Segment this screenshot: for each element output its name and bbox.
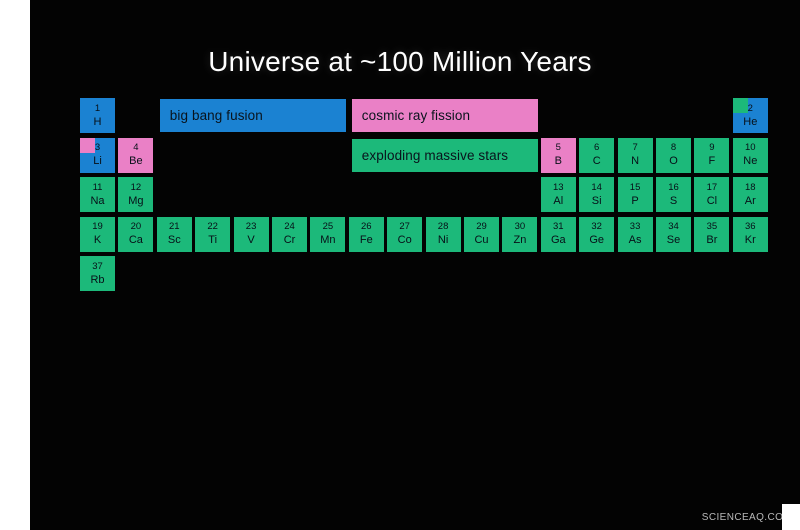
atomic-number: 8 <box>671 143 676 153</box>
element-cell-s[interactable]: 16S <box>656 177 691 212</box>
element-symbol: P <box>631 195 638 208</box>
atomic-number: 27 <box>399 222 410 232</box>
element-symbol: Ti <box>208 234 217 247</box>
element-symbol: Se <box>667 234 680 247</box>
element-symbol: Cr <box>284 234 296 247</box>
element-cell-o[interactable]: 8O <box>656 138 691 173</box>
element-cell-sc[interactable]: 21Sc <box>157 217 192 252</box>
element-symbol: Na <box>90 195 104 208</box>
element-symbol: Fe <box>360 234 373 247</box>
atomic-number: 11 <box>93 183 103 193</box>
element-symbol: Sc <box>168 234 181 247</box>
element-cell-br[interactable]: 35Br <box>694 217 729 252</box>
element-cell-ar[interactable]: 18Ar <box>733 177 768 212</box>
element-symbol: S <box>670 195 677 208</box>
element-cell-ne[interactable]: 10Ne <box>733 138 768 173</box>
atomic-number: 21 <box>169 222 180 232</box>
atomic-number: 29 <box>476 222 487 232</box>
element-cell-mg[interactable]: 12Mg <box>118 177 153 212</box>
element-cell-mn[interactable]: 25Mn <box>310 217 345 252</box>
atomic-number: 10 <box>745 143 756 153</box>
atomic-number: 34 <box>668 222 679 232</box>
diagram-canvas: Universe at ~100 Million Years 1H2He3Li4… <box>30 0 800 530</box>
atomic-number: 7 <box>632 143 637 153</box>
element-symbol: Co <box>398 234 412 247</box>
element-symbol: Ni <box>438 234 448 247</box>
element-symbol: Mn <box>320 234 335 247</box>
atomic-number: 1 <box>95 104 100 114</box>
element-cell-se[interactable]: 34Se <box>656 217 691 252</box>
element-symbol: H <box>94 116 102 129</box>
element-symbol: Cu <box>474 234 488 247</box>
element-cell-al[interactable]: 13Al <box>541 177 576 212</box>
element-symbol: Zn <box>513 234 526 247</box>
element-symbol: C <box>593 155 601 168</box>
atomic-number: 19 <box>92 222 103 232</box>
atomic-number: 31 <box>553 222 564 232</box>
element-cell-p[interactable]: 15P <box>618 177 653 212</box>
atomic-number: 18 <box>745 183 756 193</box>
atomic-number: 4 <box>133 143 138 153</box>
atomic-number: 28 <box>438 222 449 232</box>
element-cell-fe[interactable]: 26Fe <box>349 217 384 252</box>
element-symbol: Ca <box>129 234 143 247</box>
element-cell-kr[interactable]: 36Kr <box>733 217 768 252</box>
atomic-number: 17 <box>707 183 718 193</box>
element-symbol: Al <box>553 195 563 208</box>
element-symbol: Mg <box>128 195 143 208</box>
element-cell-cl[interactable]: 17Cl <box>694 177 729 212</box>
legend-bar-exploding-massive-stars: exploding massive stars <box>352 139 538 172</box>
element-symbol: B <box>555 155 562 168</box>
element-cell-be[interactable]: 4Be <box>118 138 153 173</box>
element-symbol: Si <box>592 195 602 208</box>
element-symbol: K <box>94 234 101 247</box>
atomic-number: 14 <box>591 183 602 193</box>
atomic-number: 22 <box>207 222 218 232</box>
diagram-stage: Universe at ~100 Million Years 1H2He3Li4… <box>0 0 800 530</box>
atomic-number: 25 <box>323 222 334 232</box>
element-cell-n[interactable]: 7N <box>618 138 653 173</box>
element-cell-as[interactable]: 33As <box>618 217 653 252</box>
element-cell-he[interactable]: 2He <box>733 98 768 133</box>
element-symbol: Ne <box>743 155 757 168</box>
atomic-number: 15 <box>630 183 641 193</box>
element-symbol: Ga <box>551 234 566 247</box>
element-cell-zn[interactable]: 30Zn <box>502 217 537 252</box>
element-cell-f[interactable]: 9F <box>694 138 729 173</box>
element-cell-cr[interactable]: 24Cr <box>272 217 307 252</box>
atomic-number: 35 <box>707 222 718 232</box>
atomic-number: 2 <box>748 104 753 114</box>
element-cell-rb[interactable]: 37Rb <box>80 256 115 291</box>
atomic-number: 20 <box>131 222 142 232</box>
atomic-number: 5 <box>556 143 561 153</box>
atomic-number: 9 <box>709 143 714 153</box>
element-symbol: Cl <box>707 195 717 208</box>
element-symbol: Rb <box>90 274 104 287</box>
atomic-number: 30 <box>515 222 526 232</box>
atomic-number: 32 <box>591 222 602 232</box>
element-symbol: F <box>709 155 716 168</box>
element-cell-h[interactable]: 1H <box>80 98 115 133</box>
element-cell-c[interactable]: 6C <box>579 138 614 173</box>
element-symbol: Ge <box>589 234 604 247</box>
element-cell-li[interactable]: 3Li <box>80 138 115 173</box>
element-symbol: Be <box>129 155 142 168</box>
element-symbol: O <box>669 155 678 168</box>
element-symbol: He <box>743 116 757 129</box>
element-cell-b[interactable]: 5B <box>541 138 576 173</box>
legend-bar-cosmic-ray-fission: cosmic ray fission <box>352 99 538 132</box>
element-symbol: Li <box>93 155 102 168</box>
atomic-number: 13 <box>553 183 564 193</box>
element-cell-v[interactable]: 23V <box>234 217 269 252</box>
atomic-number: 24 <box>284 222 295 232</box>
element-cell-ga[interactable]: 31Ga <box>541 217 576 252</box>
element-cell-ti[interactable]: 22Ti <box>195 217 230 252</box>
element-symbol: Br <box>706 234 717 247</box>
atomic-number: 3 <box>95 143 100 153</box>
element-cell-k[interactable]: 19K <box>80 217 115 252</box>
atomic-number: 37 <box>92 262 103 272</box>
atomic-number: 33 <box>630 222 641 232</box>
legend-bar-big-bang-fusion: big bang fusion <box>160 99 346 132</box>
element-cell-co[interactable]: 27Co <box>387 217 422 252</box>
element-symbol: As <box>629 234 642 247</box>
page-title: Universe at ~100 Million Years <box>30 47 770 78</box>
element-symbol: Kr <box>745 234 756 247</box>
element-cell-cu[interactable]: 29Cu <box>464 217 499 252</box>
element-symbol: N <box>631 155 639 168</box>
origin-corner-marker <box>733 98 748 113</box>
element-cell-ca[interactable]: 20Ca <box>118 217 153 252</box>
corner-mask <box>782 504 800 530</box>
atomic-number: 36 <box>745 222 756 232</box>
element-cell-si[interactable]: 14Si <box>579 177 614 212</box>
atomic-number: 12 <box>131 183 142 193</box>
atomic-number: 6 <box>594 143 599 153</box>
origin-corner-marker <box>80 138 95 153</box>
element-symbol: Ar <box>745 195 756 208</box>
atomic-number: 26 <box>361 222 372 232</box>
element-cell-na[interactable]: 11Na <box>80 177 115 212</box>
element-cell-ni[interactable]: 28Ni <box>426 217 461 252</box>
element-cell-ge[interactable]: 32Ge <box>579 217 614 252</box>
atomic-number: 16 <box>668 183 679 193</box>
watermark: SCIENCEAQ.COM <box>702 512 792 523</box>
atomic-number: 23 <box>246 222 257 232</box>
element-symbol: V <box>247 234 254 247</box>
